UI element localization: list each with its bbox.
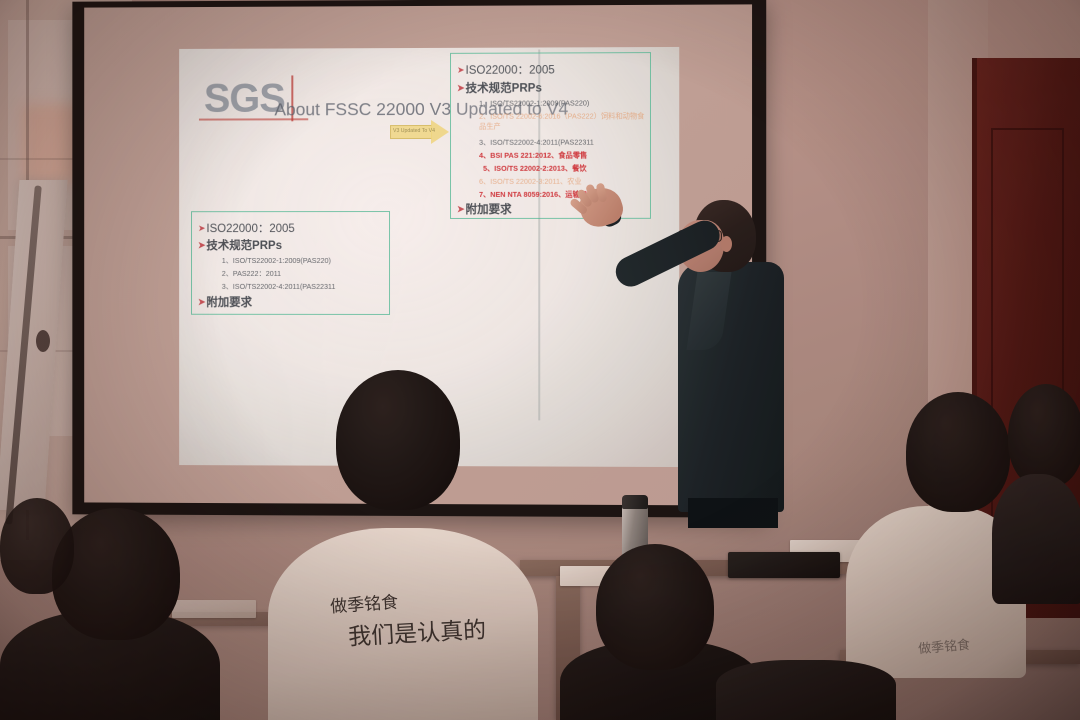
v3-line-2: 1、ISO/TS22002-1:2009(PAS220)	[222, 256, 331, 266]
v4-line-9: ➤附加要求	[457, 201, 512, 217]
shirt-text-line1: 做季铭食	[329, 588, 399, 618]
v4-line-5: 4、BSI PAS 221:2012、食品零售	[479, 151, 587, 161]
v4-line-1: ➤技术规范PRPs	[457, 80, 542, 96]
bullet-marker-icon: ➤	[198, 223, 205, 233]
thermos-cap	[622, 495, 648, 509]
notebook-middle	[728, 552, 840, 578]
student-right-head	[906, 392, 1010, 512]
student-middle-head	[596, 544, 714, 670]
student-front-head	[336, 370, 460, 510]
bullet-marker-icon: ➤	[457, 65, 465, 75]
bullet-marker-icon: ➤	[457, 204, 465, 214]
bullet-marker-icon: ➤	[198, 297, 205, 307]
presenter-legs	[688, 498, 778, 528]
v4-line-4: 3、ISO/TS22002-4:2011(PAS22311	[479, 138, 594, 148]
papers-left	[172, 600, 256, 618]
presenter-ear	[721, 236, 732, 252]
student-far-right-body	[992, 474, 1080, 604]
v3-line-1: ➤技术规范PRPs	[198, 237, 282, 253]
v3-to-v4-arrow: V3 Updated To V4	[390, 120, 450, 144]
v3-content-box: ➤ISO22000：2005 ➤技术规范PRPs 1、ISO/TS22002-1…	[191, 211, 390, 315]
sgs-logo: SGS	[204, 76, 285, 121]
v3-line-0: ➤ISO22000：2005	[198, 220, 295, 236]
bullet-marker-icon: ➤	[457, 83, 465, 93]
v4-line-2: 1、ISO/TS22002-1:2009(PAS220)	[479, 98, 589, 108]
student-far-right-head	[1008, 384, 1080, 488]
v3-line-3: 2、PAS222：2011	[222, 269, 281, 279]
flipchart-knob	[36, 330, 50, 352]
v4-line-7: 6、ISO/TS 22002-3:2011、农业	[479, 177, 582, 187]
v4-line-0: ➤ISO22000：2005	[457, 61, 555, 77]
bullet-marker-icon: ➤	[198, 240, 205, 250]
arrow-label: V3 Updated To V4	[393, 128, 435, 134]
v3-line-5: ➤附加要求	[198, 294, 252, 310]
v3-line-4: 3、ISO/TS22002-4:2011(PAS22311	[222, 282, 336, 292]
v4-line-6: 5、ISO/TS 22002-2:2013、餐饮	[483, 164, 587, 174]
v4-line-3: 2、ISO/TS 22002-6:2016（PAS222）饲料和动物食品生产	[479, 111, 650, 132]
shirt-text-line2: 我们是认真的	[347, 610, 487, 651]
student-far-left-head	[0, 498, 74, 594]
student-foreground-body	[716, 660, 896, 720]
classroom-photo-scene: SGS About FSSC 22000 V3 Updated to V4 ➤I…	[0, 0, 1080, 720]
presenter	[616, 178, 816, 526]
